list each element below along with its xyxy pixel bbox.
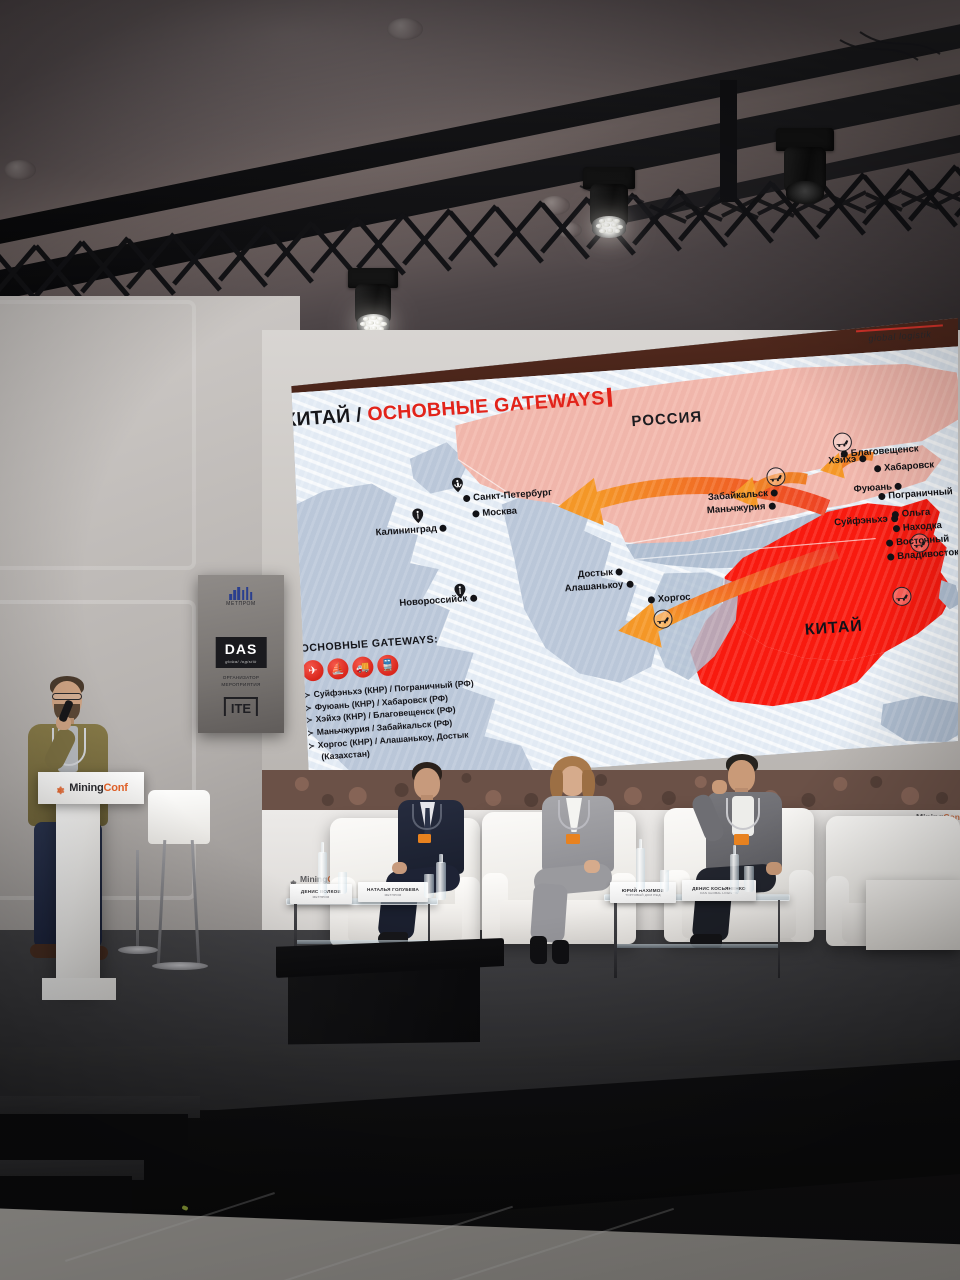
leg — [530, 883, 568, 943]
podium-base — [42, 978, 116, 1000]
cocktail-table — [866, 880, 960, 950]
drinking-glass — [744, 866, 754, 892]
moving-head-light — [583, 167, 635, 239]
truck-icon: 🚚 — [352, 656, 375, 678]
metprom-bars-icon — [226, 587, 256, 600]
gear-icon — [288, 875, 297, 884]
nameplate-org: МЕТПРОМ — [385, 893, 402, 897]
podium-wordmark: MiningConf — [69, 782, 127, 794]
ite-wordmark: ITE — [231, 701, 251, 716]
water-bottle — [318, 852, 327, 896]
das-logo: DAS global logistik — [216, 637, 267, 668]
moving-head-light — [348, 268, 398, 336]
hand — [712, 780, 727, 794]
hand — [584, 860, 600, 873]
plane-icon: ✈ — [302, 659, 325, 681]
drinking-glass — [660, 870, 669, 892]
stool-leg — [191, 840, 201, 966]
boot — [530, 936, 547, 964]
moving-head-light — [776, 128, 834, 206]
water-bottle — [730, 854, 739, 894]
slide-map: КИТАЙ / ОСНОВНЫЕ GATEWAYS РОССИЯ КИТАЙ — [286, 346, 958, 788]
gateway-marker-icon — [892, 586, 912, 606]
gateway-marker-icon — [653, 609, 673, 629]
light-lens — [786, 181, 824, 204]
slide-content: Первая конференция по развитию бизнеса в… — [286, 318, 958, 788]
name-badge — [566, 834, 580, 844]
lanyard — [412, 804, 442, 830]
nameplate: НАТАЛЬЯ ГОЛУБЕВА МЕТПРОМ — [358, 882, 428, 902]
podium-top: MiningConf — [38, 772, 144, 804]
bar-stool — [118, 850, 158, 976]
stool-seat — [148, 790, 210, 844]
conference-photo: МЕТПРОМ DAS global logistik ОРГАНИЗАТОР … — [0, 0, 960, 1280]
sponsor-banner: МЕТПРОМ DAS global logistik ОРГАНИЗАТОР … — [198, 575, 284, 733]
presentation-screen: Первая конференция по развитию бизнеса в… — [286, 318, 958, 788]
stool-base — [118, 946, 158, 954]
table-shelf — [614, 944, 780, 948]
water-bottle — [436, 862, 446, 900]
light-lens — [592, 216, 626, 238]
side-table — [604, 894, 790, 980]
drinking-glass — [424, 874, 434, 898]
anchor-pin-icon — [452, 477, 464, 493]
train-icon: 🚆 — [377, 654, 400, 676]
das-wordmark: DAS — [225, 641, 258, 657]
metprom-logo: МЕТПРОМ — [226, 587, 256, 607]
name-badge — [418, 834, 431, 843]
water-bottle — [636, 848, 645, 890]
organizer-caption: ОРГАНИЗАТОР МЕРОПРИЯТИЯ — [221, 675, 260, 689]
map-legend: ОСНОВНЫЕ GATEWAYS: ✈ ⛵ 🚚 🚆 Суйфэньхэ (КН… — [300, 629, 509, 764]
nameplate-name: НАТАЛЬЯ ГОЛУБЕВА — [367, 887, 419, 892]
wall-moulding — [0, 300, 196, 570]
gear-icon — [54, 783, 65, 794]
anchor-pin-icon — [412, 508, 424, 524]
ship-icon: ⛵ — [327, 658, 350, 680]
nameplate-org: ТОРГОВЫЙ ДОМ РЖД — [625, 893, 660, 897]
led-cluster — [592, 216, 626, 238]
name-badge — [734, 834, 749, 845]
table-leg — [778, 900, 781, 978]
hand — [392, 862, 407, 874]
boot — [552, 940, 569, 964]
drinking-glass — [338, 872, 347, 894]
gateway-marker-icon — [766, 467, 786, 487]
table-leg — [614, 900, 617, 978]
legend-items: Суйфэньхэ (КНР) / Пограничный (РФ) Фуюан… — [304, 675, 510, 765]
das-tagline: global logistik — [225, 659, 258, 664]
ite-logo: ITE — [224, 697, 258, 716]
stool-leg — [157, 840, 167, 966]
metprom-label: МЕТПРОМ — [226, 601, 256, 607]
podium — [56, 798, 100, 988]
stool-leg — [136, 850, 139, 950]
stool-base — [152, 962, 208, 970]
hand — [766, 862, 782, 875]
